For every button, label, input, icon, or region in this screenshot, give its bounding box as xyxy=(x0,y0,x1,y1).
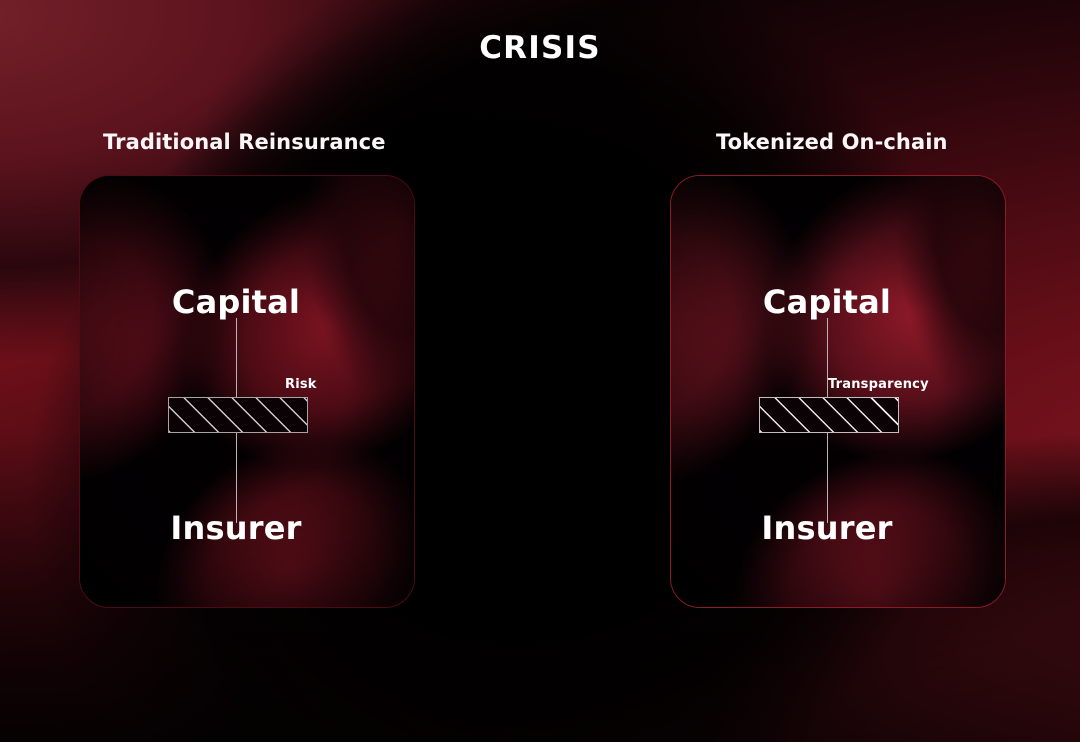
card-tokenized-on-chain: Capital Transparency Insurer xyxy=(670,175,1006,608)
edge-label-risk: Risk xyxy=(285,377,317,392)
hatched-transparency-box xyxy=(759,397,899,433)
node-label-insurer: Insurer xyxy=(761,509,892,547)
node-label-capital: Capital xyxy=(763,283,891,321)
slide-canvas: CRISIS Traditional Reinsurance Capital R… xyxy=(0,0,1080,742)
panel-caption-traditional-reinsurance: Traditional Reinsurance xyxy=(103,130,386,154)
card-traditional-reinsurance: Capital Risk Insurer xyxy=(79,175,415,608)
slide-title: CRISIS xyxy=(0,30,1080,66)
diagram-tokenized: Capital Transparency Insurer xyxy=(671,176,1005,607)
edge-label-transparency: Transparency xyxy=(828,377,929,392)
hatched-risk-box xyxy=(168,397,308,433)
diagram-traditional: Capital Risk Insurer xyxy=(80,176,414,607)
node-label-insurer: Insurer xyxy=(170,509,301,547)
node-label-capital: Capital xyxy=(172,283,300,321)
panel-caption-tokenized-on-chain: Tokenized On-chain xyxy=(716,130,948,154)
